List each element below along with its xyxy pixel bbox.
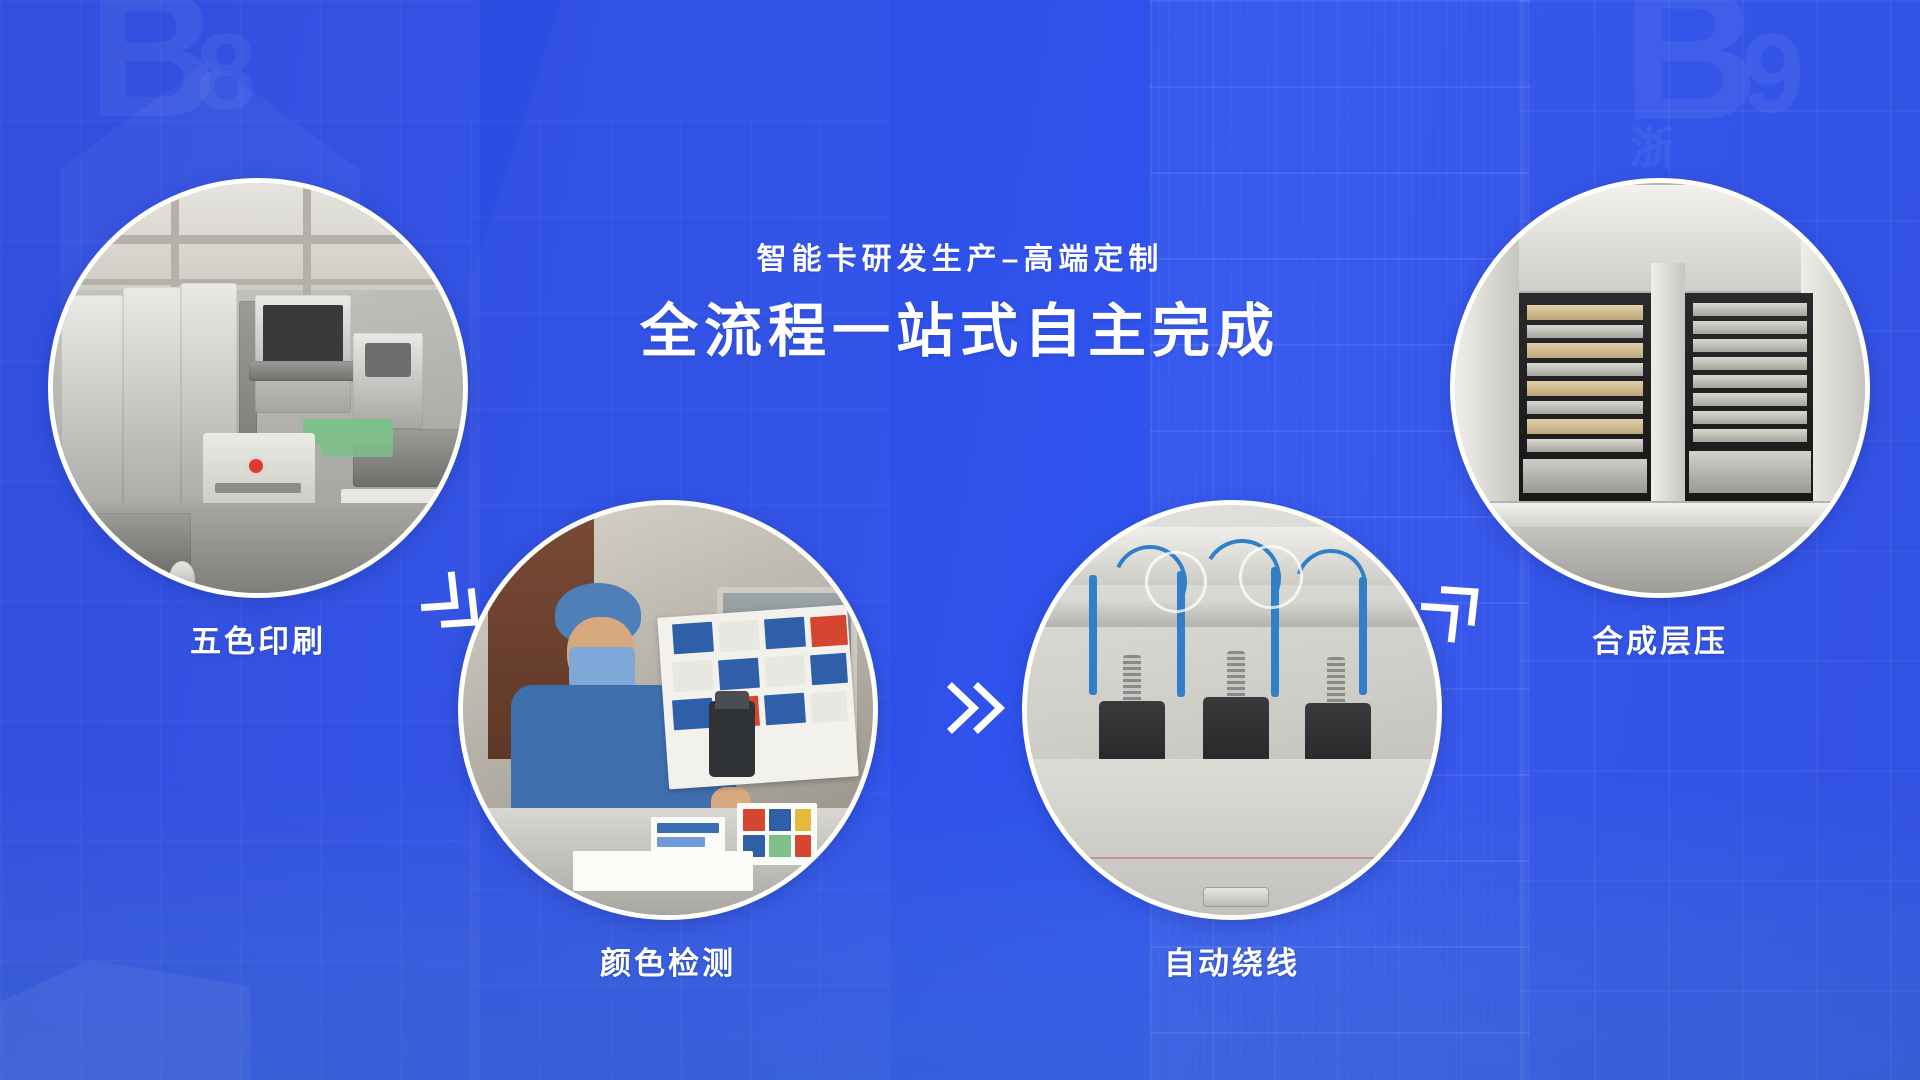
photo-printing-press <box>53 183 463 593</box>
step-2-photo-circle[interactable] <box>458 500 878 920</box>
photo-lamination-press <box>1455 183 1865 593</box>
watermark-char-zhe: 浙 <box>1630 130 1674 167</box>
step-2-label: 颜色检测 <box>458 938 878 983</box>
watermark-letter-b-right: B <box>1622 0 1755 136</box>
step-1[interactable]: 五色印刷 <box>48 178 468 661</box>
chevron-double-right-icon <box>946 681 1010 735</box>
step-3-label: 自动绕线 <box>1022 938 1442 983</box>
step-4[interactable]: 合成层压 <box>1450 178 1870 661</box>
watermark-number-8: 8 <box>196 26 252 118</box>
step-1-label: 五色印刷 <box>48 616 468 661</box>
watermark-number-9: 9 <box>1742 26 1800 121</box>
background-ground-band <box>0 780 1920 1080</box>
step-4-label: 合成层压 <box>1450 616 1870 661</box>
step-4-photo-circle[interactable] <box>1450 178 1870 598</box>
banner-stage: B 8 B 9 浙 智能卡研发生产–高端定制 全流程一站式自主完成 <box>0 0 1920 1080</box>
step-3[interactable]: 自动绕线 <box>1022 500 1442 983</box>
arrow-step2-to-step3 <box>938 668 1018 748</box>
photo-auto-winding <box>1027 505 1437 915</box>
step-1-photo-circle[interactable] <box>48 178 468 598</box>
step-2[interactable]: 颜色检测 <box>458 500 878 983</box>
step-3-photo-circle[interactable] <box>1022 500 1442 920</box>
photo-color-inspection <box>463 505 873 915</box>
